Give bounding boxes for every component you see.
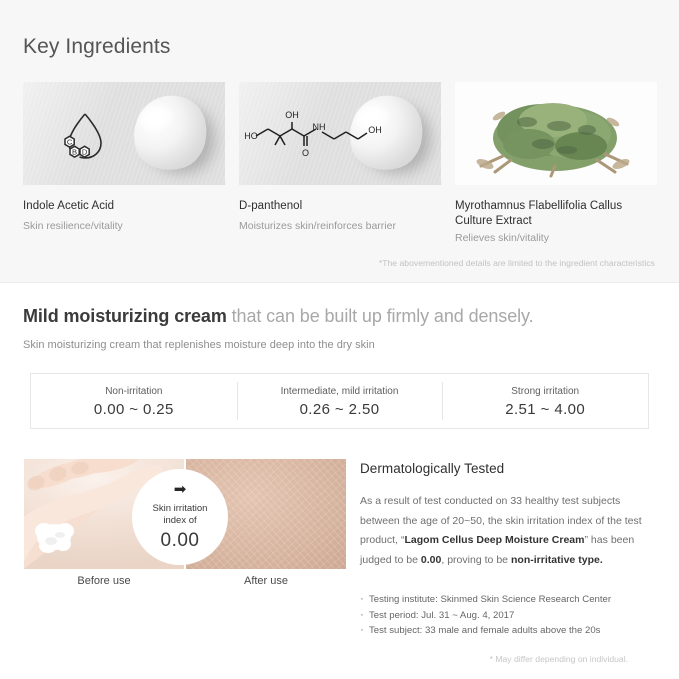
conclusion-text: non-irritative type.	[511, 554, 603, 566]
ingredient-description: Moisturizes skin/reinforces barrier	[239, 220, 441, 233]
list-item: Test period: Jul. 31 ~ Aug. 4, 2017	[360, 608, 660, 624]
dermatological-heading: Dermatologically Tested	[360, 461, 660, 476]
svg-text:B: B	[72, 147, 77, 156]
dermatological-paragraph: As a result of test conducted on 33 heal…	[360, 492, 660, 570]
section-headline: Mild moisturizing cream that can be buil…	[23, 306, 533, 327]
ingredient-name: Indole Acetic Acid	[23, 199, 225, 214]
dermatological-footnote: * May differ depending on individual.	[360, 654, 660, 664]
product-name: Lagom Cellus Deep Moisture Cream	[404, 534, 584, 546]
svg-text:OH: OH	[285, 110, 299, 120]
svg-text:D: D	[82, 147, 88, 156]
panthenol-chemical-structure: HO OH NH O OH	[239, 82, 441, 185]
molecule-diagram-icon: HO OH NH O OH	[239, 82, 441, 185]
badge-text-line1: Skin irritation	[153, 503, 208, 515]
arrow-right-icon: ➡	[174, 483, 187, 496]
irritation-index-badge: ➡ Skin irritation index of 0.00	[132, 469, 228, 565]
ingredient-name: D-panthenol	[239, 199, 441, 214]
badge-text-line2: index of	[163, 515, 196, 527]
resurrection-plant-photo	[455, 82, 657, 185]
page-title: Key Ingredients	[23, 35, 170, 59]
irritation-scale-table: Non-irritation 0.00 ~ 0.25 Intermediate,…	[30, 373, 649, 429]
list-item: Test subject: 33 male and female adults …	[360, 623, 660, 639]
list-item: Testing institute: Skinmed Skin Science …	[360, 592, 660, 608]
test-details-list: Testing institute: Skinmed Skin Science …	[360, 592, 660, 639]
droplet-icon: C B D	[23, 82, 225, 185]
svg-text:C: C	[67, 137, 73, 146]
ingredient-card-d-panthenol: HO OH NH O OH D-panthenol Moisturizes sk…	[239, 82, 441, 245]
ingredient-description: Skin resilience/vitality	[23, 220, 225, 233]
ingredient-card-indole-acetic-acid: C B D Indole Acetic Acid Skin resilience…	[23, 82, 225, 245]
scale-label: Intermediate, mild irritation	[281, 385, 399, 398]
scale-cell-non-irritation: Non-irritation 0.00 ~ 0.25	[31, 374, 237, 428]
droplet-molecule-illustration: C B D	[23, 82, 225, 185]
headline-rest: that can be built up firmly and densely.	[227, 306, 534, 326]
dermatological-test-block: Dermatologically Tested As a result of t…	[360, 461, 660, 664]
paragraph-part-3: , proving to be	[441, 554, 511, 566]
scale-range: 0.26 ~ 2.50	[300, 401, 380, 418]
product-detail-page: Key Ingredients C B D	[0, 0, 679, 679]
ingredients-footnote: *The abovementioned details are limited …	[379, 258, 655, 268]
svg-text:OH: OH	[368, 125, 382, 135]
scale-cell-strong: Strong irritation 2.51 ~ 4.00	[442, 374, 648, 428]
scale-range: 2.51 ~ 4.00	[505, 401, 585, 418]
svg-text:HO: HO	[244, 131, 258, 141]
ingredient-list: C B D Indole Acetic Acid Skin resilience…	[23, 82, 657, 245]
after-use-caption: After use	[186, 575, 346, 587]
ingredient-card-myrothamnus: Myrothamnus Flabellifolia Callus Culture…	[455, 82, 657, 245]
headline-bold: Mild moisturizing cream	[23, 306, 227, 326]
scale-label: Non-irritation	[105, 385, 162, 398]
ingredient-name: Myrothamnus Flabellifolia Callus Culture…	[455, 199, 657, 228]
ingredient-description: Relieves skin/vitality	[455, 232, 657, 245]
scale-range: 0.00 ~ 0.25	[94, 401, 174, 418]
key-ingredients-section: Key Ingredients C B D	[0, 0, 679, 283]
badge-value: 0.00	[161, 530, 200, 552]
before-use-caption: Before use	[24, 575, 184, 587]
before-after-images: ➡ Skin irritation index of 0.00	[24, 459, 346, 569]
scale-cell-intermediate: Intermediate, mild irritation 0.26 ~ 2.5…	[237, 374, 443, 428]
scale-label: Strong irritation	[511, 385, 579, 398]
plant-illustration-icon	[455, 82, 657, 185]
svg-text:NH: NH	[313, 122, 326, 132]
index-value: 0.00	[421, 554, 441, 566]
svg-text:O: O	[302, 148, 309, 158]
section-subline: Skin moisturizing cream that replenishes…	[23, 339, 375, 351]
